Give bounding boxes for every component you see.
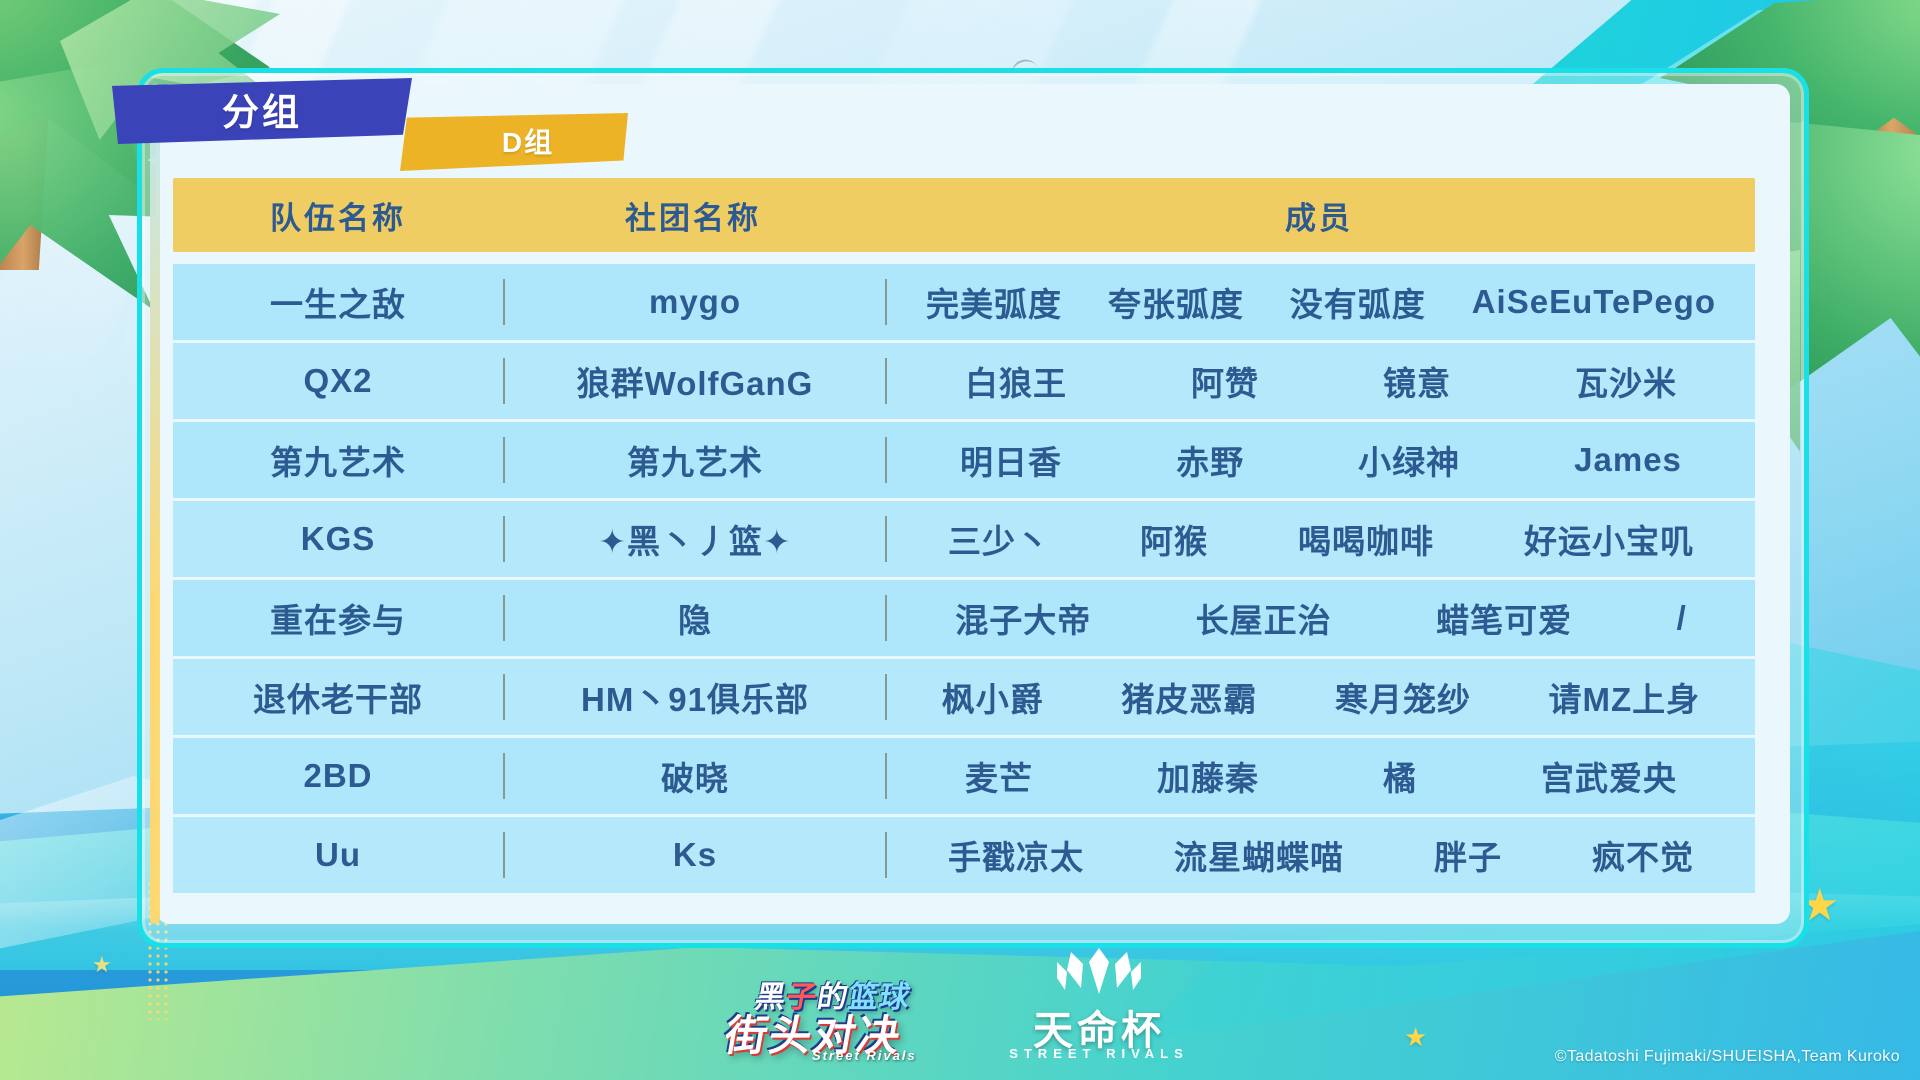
column-header-club: 社团名称 xyxy=(503,193,883,238)
member-name: 猪皮恶霸 xyxy=(1121,673,1257,721)
member-name: 请MZ上身 xyxy=(1549,673,1701,721)
column-separator xyxy=(885,595,887,641)
slide-canvas: ★ ★ ★ 分组 D组 队伍名称 社团名称 成员 一生之敌mygo完美弧度夸张弧… xyxy=(0,0,1920,1080)
member-name: 小绿神 xyxy=(1358,436,1460,484)
cell-members: 混子大帝长屋正治蜡笔可爱/ xyxy=(887,594,1755,642)
member-name: 胖子 xyxy=(1434,831,1502,879)
member-name: 蜡笔可爱 xyxy=(1436,594,1572,642)
member-name: 好运小宝叽 xyxy=(1524,515,1694,563)
cell-team-name: 第九艺术 xyxy=(173,436,503,484)
member-name: 加藤秦 xyxy=(1157,752,1259,800)
member-name: AiSeEuTePego xyxy=(1472,283,1716,321)
tournament-name-en: STREET RIVALS xyxy=(1009,1046,1189,1061)
panel-left-accent-strip xyxy=(150,84,160,924)
tournament-logo: 天命杯 STREET RIVALS xyxy=(994,948,1204,1066)
group-tag-label: D组 xyxy=(502,121,554,161)
member-name: 长屋正治 xyxy=(1196,594,1332,642)
member-name: 橘 xyxy=(1383,752,1417,800)
member-name: 疯不觉 xyxy=(1592,831,1694,879)
cell-club-name: ✦黑丶丿篮✦ xyxy=(505,515,885,563)
column-header-team: 队伍名称 xyxy=(173,193,503,238)
member-name: 流星蝴蝶喵 xyxy=(1174,831,1344,879)
table-row: KGS✦黑丶丿篮✦三少丶阿猴喝喝咖啡好运小宝叽 xyxy=(173,501,1755,577)
cell-team-name: QX2 xyxy=(173,362,503,400)
member-name: 手戳凉太 xyxy=(948,831,1084,879)
member-name: 宫武爱央 xyxy=(1541,752,1677,800)
member-name: 明日香 xyxy=(960,436,1062,484)
member-name: / xyxy=(1677,599,1687,637)
column-separator xyxy=(885,832,887,878)
column-separator xyxy=(885,674,887,720)
member-name: James xyxy=(1574,441,1682,479)
member-name: 三少丶 xyxy=(948,515,1050,563)
column-separator xyxy=(885,437,887,483)
cell-members: 麦芒加藤秦橘宫武爱央 xyxy=(887,752,1755,800)
section-title-label: 分组 xyxy=(222,82,302,136)
table-row: 2BD破晓麦芒加藤秦橘宫武爱央 xyxy=(173,738,1755,814)
member-name: 寒月笼纱 xyxy=(1335,673,1471,721)
table-row: UuKs手戳凉太流星蝴蝶喵胖子疯不觉 xyxy=(173,817,1755,893)
member-name: 枫小爵 xyxy=(942,673,1044,721)
cell-members: 完美弧度夸张弧度没有弧度AiSeEuTePego xyxy=(887,278,1755,326)
cell-members: 手戳凉太流星蝴蝶喵胖子疯不觉 xyxy=(887,831,1755,879)
member-name: 白狼王 xyxy=(965,357,1067,405)
column-header-members: 成员 xyxy=(883,193,1755,238)
cell-club-name: 破晓 xyxy=(505,752,885,800)
cell-club-name: 隐 xyxy=(505,594,885,642)
cell-team-name: Uu xyxy=(173,836,503,874)
table-row: 退休老干部HM丶91俱乐部枫小爵猪皮恶霸寒月笼纱请MZ上身 xyxy=(173,659,1755,735)
game-logo-line3: Street Rivals xyxy=(812,1048,917,1063)
table-row: 第九艺术第九艺术明日香赤野小绿神James xyxy=(173,422,1755,498)
member-name: 完美弧度 xyxy=(926,278,1062,326)
cell-team-name: 重在参与 xyxy=(173,594,503,642)
group-table: 队伍名称 社团名称 成员 一生之敌mygo完美弧度夸张弧度没有弧度AiSeEuT… xyxy=(173,178,1755,918)
cell-team-name: 2BD xyxy=(173,757,503,795)
cell-club-name: Ks xyxy=(505,836,885,874)
cell-club-name: HM丶91俱乐部 xyxy=(505,673,885,721)
cell-team-name: 退休老干部 xyxy=(173,673,503,721)
cell-team-name: 一生之敌 xyxy=(173,278,503,326)
game-logo: 黑子的篮球 街头对决 Street Rivals xyxy=(716,970,946,1066)
column-separator xyxy=(885,516,887,562)
cell-members: 三少丶阿猴喝喝咖啡好运小宝叽 xyxy=(887,515,1755,563)
cell-club-name: 第九艺术 xyxy=(505,436,885,484)
table-body: 一生之敌mygo完美弧度夸张弧度没有弧度AiSeEuTePegoQX2狼群Wol… xyxy=(173,264,1755,893)
member-name: 瓦沙米 xyxy=(1575,357,1677,405)
member-name: 阿赞 xyxy=(1191,357,1259,405)
table-row: QX2狼群WolfGanG白狼王阿赞镜意瓦沙米 xyxy=(173,343,1755,419)
footer-logos: 黑子的篮球 街头对决 Street Rivals 天命杯 STREET RIVA… xyxy=(716,948,1204,1066)
cell-members: 枫小爵猪皮恶霸寒月笼纱请MZ上身 xyxy=(887,673,1755,721)
table-header-row: 队伍名称 社团名称 成员 xyxy=(173,178,1755,252)
copyright-text: ©Tadatoshi Fujimaki/SHUEISHA,Team Kuroko xyxy=(1555,1048,1900,1066)
member-name: 没有弧度 xyxy=(1290,278,1426,326)
tournament-mark-icon xyxy=(1057,948,1141,994)
cell-club-name: 狼群WolfGanG xyxy=(505,357,885,405)
cell-team-name: KGS xyxy=(173,520,503,558)
footer: 黑子的篮球 街头对决 Street Rivals 天命杯 STREET RIVA… xyxy=(0,940,1920,1080)
section-title-banner: 分组 xyxy=(112,78,412,144)
column-separator xyxy=(885,358,887,404)
member-name: 夸张弧度 xyxy=(1108,278,1244,326)
cell-members: 明日香赤野小绿神James xyxy=(887,436,1755,484)
member-name: 赤野 xyxy=(1176,436,1244,484)
table-row: 一生之敌mygo完美弧度夸张弧度没有弧度AiSeEuTePego xyxy=(173,264,1755,340)
column-separator xyxy=(885,753,887,799)
member-name: 阿猴 xyxy=(1140,515,1208,563)
member-name: 麦芒 xyxy=(965,752,1033,800)
cell-club-name: mygo xyxy=(505,283,885,321)
table-row: 重在参与隐混子大帝长屋正治蜡笔可爱/ xyxy=(173,580,1755,656)
member-name: 喝喝咖啡 xyxy=(1298,515,1434,563)
cell-members: 白狼王阿赞镜意瓦沙米 xyxy=(887,357,1755,405)
member-name: 混子大帝 xyxy=(955,594,1091,642)
column-separator xyxy=(885,279,887,325)
member-name: 镜意 xyxy=(1383,357,1451,405)
